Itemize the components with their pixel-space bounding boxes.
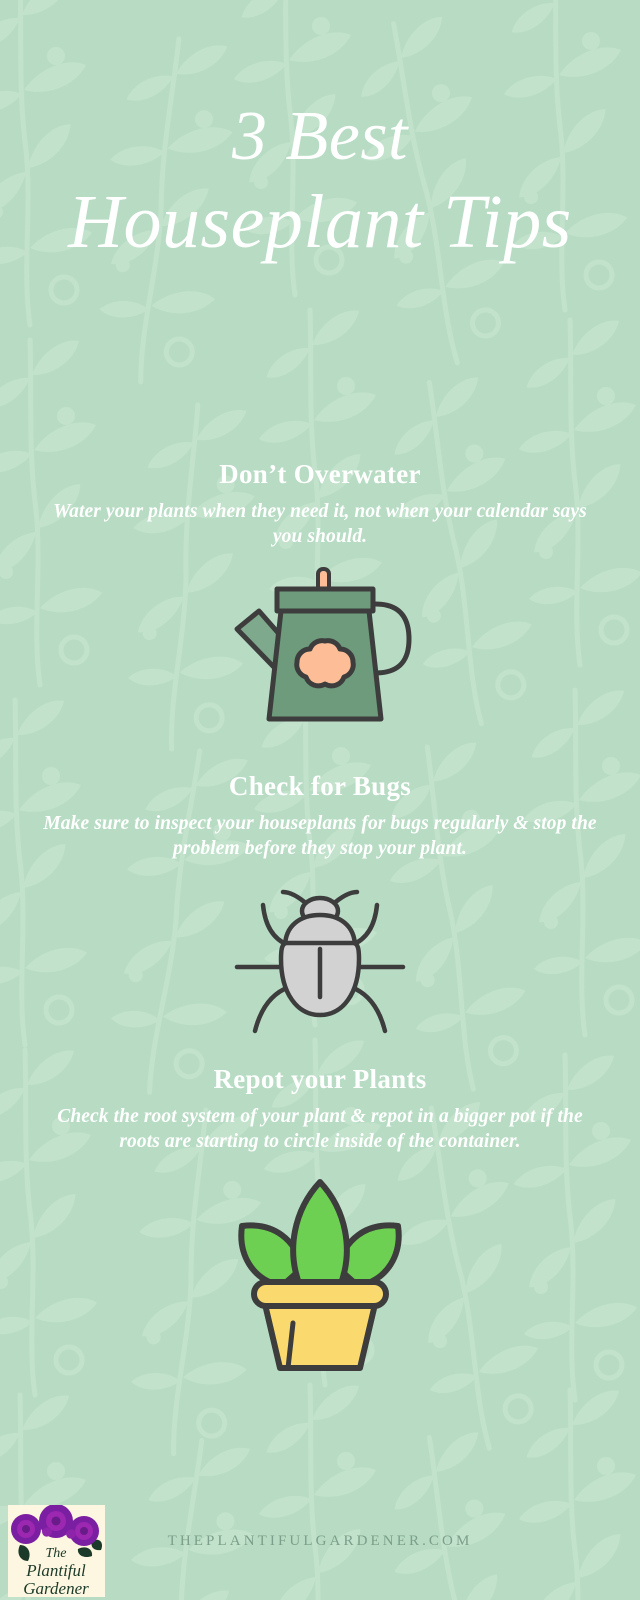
logo-text-line-3: Gardener [23, 1579, 89, 1597]
tip-heading: Check for Bugs [0, 770, 640, 802]
plant-leaf-center [293, 1182, 347, 1286]
tip-body: Water your plants when they need it, not… [0, 499, 640, 549]
title-line-1: 3 Best [0, 96, 640, 178]
tip-heading: Don’t Overwater [0, 458, 640, 490]
potted-plant-icon [230, 1168, 410, 1378]
flower-emblem-icon [297, 641, 354, 686]
watering-can-icon [215, 567, 425, 737]
tip-section-repot: Repot your Plants Check the root system … [0, 1063, 640, 1378]
tip-heading: Repot your Plants [0, 1063, 640, 1095]
watering-can-lid [277, 589, 373, 611]
tip-body: Check the root system of your plant & re… [0, 1104, 640, 1154]
bug-leg-lower-left [255, 987, 289, 1031]
poster-title: 3 Best Houseplant Tips [0, 96, 640, 266]
logo-text-line-2: Plantiful [25, 1561, 86, 1580]
pot-body [264, 1300, 376, 1368]
tip-body: Make sure to inspect your houseplants fo… [0, 811, 640, 861]
bug-leg-lower-right [351, 987, 385, 1031]
website-url[interactable]: THEPLANTIFULGARDENER.COM [0, 1530, 640, 1552]
title-line-2: Houseplant Tips [0, 178, 640, 266]
tip-section-overwater: Don’t Overwater Water your plants when t… [0, 458, 640, 737]
watering-can-handle [375, 604, 409, 673]
bug-icon [225, 875, 415, 1035]
pot-rim [254, 1282, 386, 1306]
tip-section-bugs: Check for Bugs Make sure to inspect your… [0, 770, 640, 1035]
infographic-poster: 3 Best Houseplant Tips Don’t Overwater W… [0, 0, 640, 1600]
